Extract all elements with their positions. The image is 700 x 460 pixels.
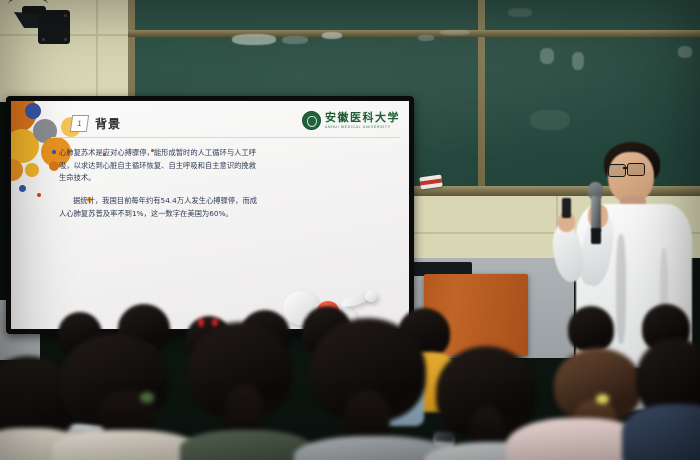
slide-paragraph-2: 据统计，我国目前每年约有54.4万人发生心搏骤停，而成人心肺复苏普及率不到1%，… xyxy=(59,195,259,220)
eyeglasses-left-lens xyxy=(608,164,626,177)
bullet-icon xyxy=(52,150,56,154)
slide-header: 1 背景 xyxy=(71,115,121,132)
page-title: 背景 xyxy=(95,115,121,132)
chalk-smudge xyxy=(418,35,434,41)
decor-circle xyxy=(25,103,41,119)
chalk-smudge xyxy=(572,52,584,70)
chalk-smudge xyxy=(540,48,554,64)
lecture-hall-photo: 1 背景 安徽医科大学 ANHUI MEDICAL UNIVERSITY 心肺复… xyxy=(0,0,700,460)
eyeglasses-right-lens xyxy=(627,163,645,176)
student-hair xyxy=(568,306,614,352)
chalk-smudge xyxy=(530,110,570,130)
chalk-smudge xyxy=(440,30,470,35)
camera-screw xyxy=(64,14,67,17)
student-front-row xyxy=(176,322,316,460)
chalk-smudge xyxy=(508,8,532,17)
chalk-smudge xyxy=(678,46,692,58)
student-front-row xyxy=(636,338,700,460)
chalk-smudge xyxy=(282,36,308,44)
chalk-smudge xyxy=(232,34,276,45)
chalk-smudge xyxy=(322,32,342,39)
microphone-base xyxy=(591,228,601,244)
hair-tie xyxy=(140,392,154,403)
eyeglasses-bridge xyxy=(623,167,628,169)
camera-screw xyxy=(42,38,45,41)
wall-mounted-display[interactable]: 1 背景 安徽医科大学 ANHUI MEDICAL UNIVERSITY 心肺复… xyxy=(6,96,414,334)
decor-circle-small xyxy=(37,193,41,197)
decor-circle xyxy=(49,161,59,171)
university-name-en: ANHUI MEDICAL UNIVERSITY xyxy=(325,125,400,129)
microphone-body xyxy=(591,196,601,232)
chalkboard-rail xyxy=(128,30,700,37)
decor-circle xyxy=(25,163,39,177)
student-torso xyxy=(180,430,312,460)
university-name-cn: 安徽医科大学 xyxy=(325,112,400,123)
student-front-row xyxy=(300,318,450,460)
slide-paragraph-1: 心肺复苏术是应对心搏骤停，能形成暂时的人工循环与人工呼吸，以求达到心脏自主循环恢… xyxy=(59,147,259,185)
decor-circle xyxy=(19,185,26,192)
university-seal-icon xyxy=(302,111,321,130)
university-logo: 安徽医科大学 ANHUI MEDICAL UNIVERSITY xyxy=(302,111,400,130)
student-front-row xyxy=(52,334,192,460)
camera-screw xyxy=(64,38,67,41)
display-screen-surface: 1 背景 安徽医科大学 ANHUI MEDICAL UNIVERSITY 心肺复… xyxy=(11,101,409,329)
hair-tie-yellow xyxy=(596,394,609,404)
student-torso-navy xyxy=(622,404,700,460)
header-divider xyxy=(51,137,400,138)
presentation-remote[interactable] xyxy=(562,198,571,218)
wall-seam-vertical xyxy=(96,0,98,102)
presentation-slide: 1 背景 安徽医科大学 ANHUI MEDICAL UNIVERSITY 心肺复… xyxy=(11,101,409,329)
figure-hand-right xyxy=(365,291,377,302)
section-number-box: 1 xyxy=(70,115,89,132)
